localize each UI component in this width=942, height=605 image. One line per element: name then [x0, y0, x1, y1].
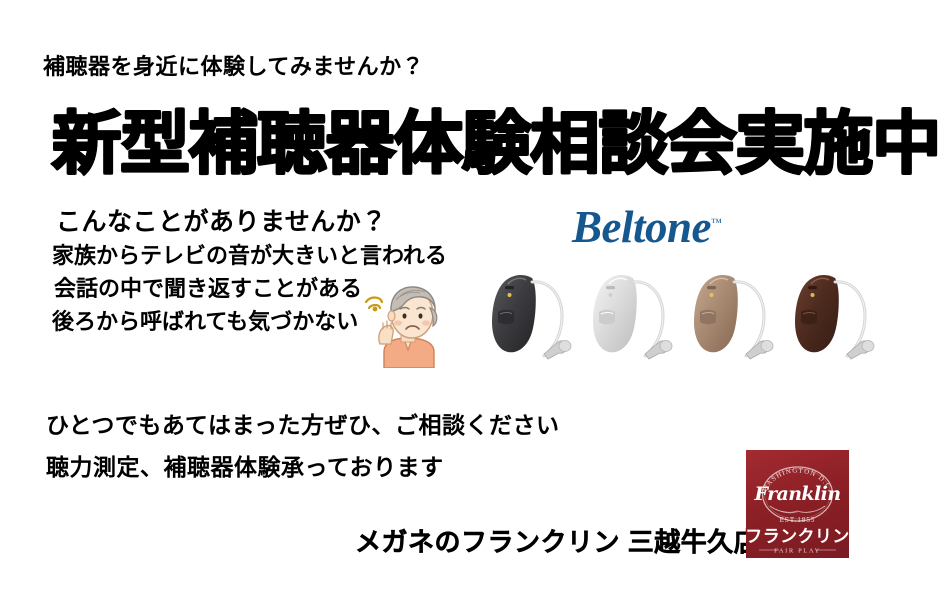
- problem-list-heading: こんなことがありませんか？: [56, 205, 444, 239]
- franklin-tagline: FAIR PLAY: [774, 548, 821, 555]
- cta-line: ひとつでもあてはまった方ぜひ、ご相談ください: [46, 404, 666, 446]
- franklin-katakana: フランクリン: [746, 527, 849, 546]
- poster-root: 補聴器を身近に体験してみませんか？ 新型補聴器体験相談会実施中 こんなことがあり…: [0, 0, 942, 605]
- store-name: メガネのフランクリン 三越牛久店: [355, 522, 760, 559]
- franklin-established: EST.1855: [780, 516, 816, 524]
- hearing-aid-unit: [593, 275, 672, 359]
- hearing-aid-unit: [694, 275, 773, 359]
- hearing-aids-image: [466, 260, 896, 368]
- poster-headline: 新型補聴器体験相談会実施中: [52, 108, 935, 180]
- beltone-logo: Beltone™: [572, 205, 722, 250]
- beltone-wordmark: Beltone: [572, 202, 711, 252]
- problem-list-item: 家族からテレビの音が大きいと言われる: [52, 239, 444, 272]
- franklin-logo: WASHINGTON D.C. Franklin EST.1855 フランクリン…: [746, 450, 849, 558]
- elderly-woman-icon: [360, 278, 456, 368]
- elderly-woman-illustration: [360, 278, 456, 368]
- cta-block: ひとつでもあてはまった方ぜひ、ご相談ください 聴力測定、補聴器体験承っております: [46, 404, 666, 488]
- trademark-symbol: ™: [711, 217, 722, 229]
- cta-line: 聴力測定、補聴器体験承っております: [46, 446, 666, 488]
- hearing-aid-unit: [795, 275, 874, 359]
- poster-subtitle: 補聴器を身近に体験してみませんか？: [43, 54, 424, 79]
- hearing-aids-icon: [466, 260, 896, 368]
- franklin-logo-icon: WASHINGTON D.C. Franklin EST.1855 フランクリン…: [746, 450, 849, 558]
- franklin-script-name: Franklin: [754, 483, 841, 505]
- hearing-aid-unit: [492, 275, 571, 359]
